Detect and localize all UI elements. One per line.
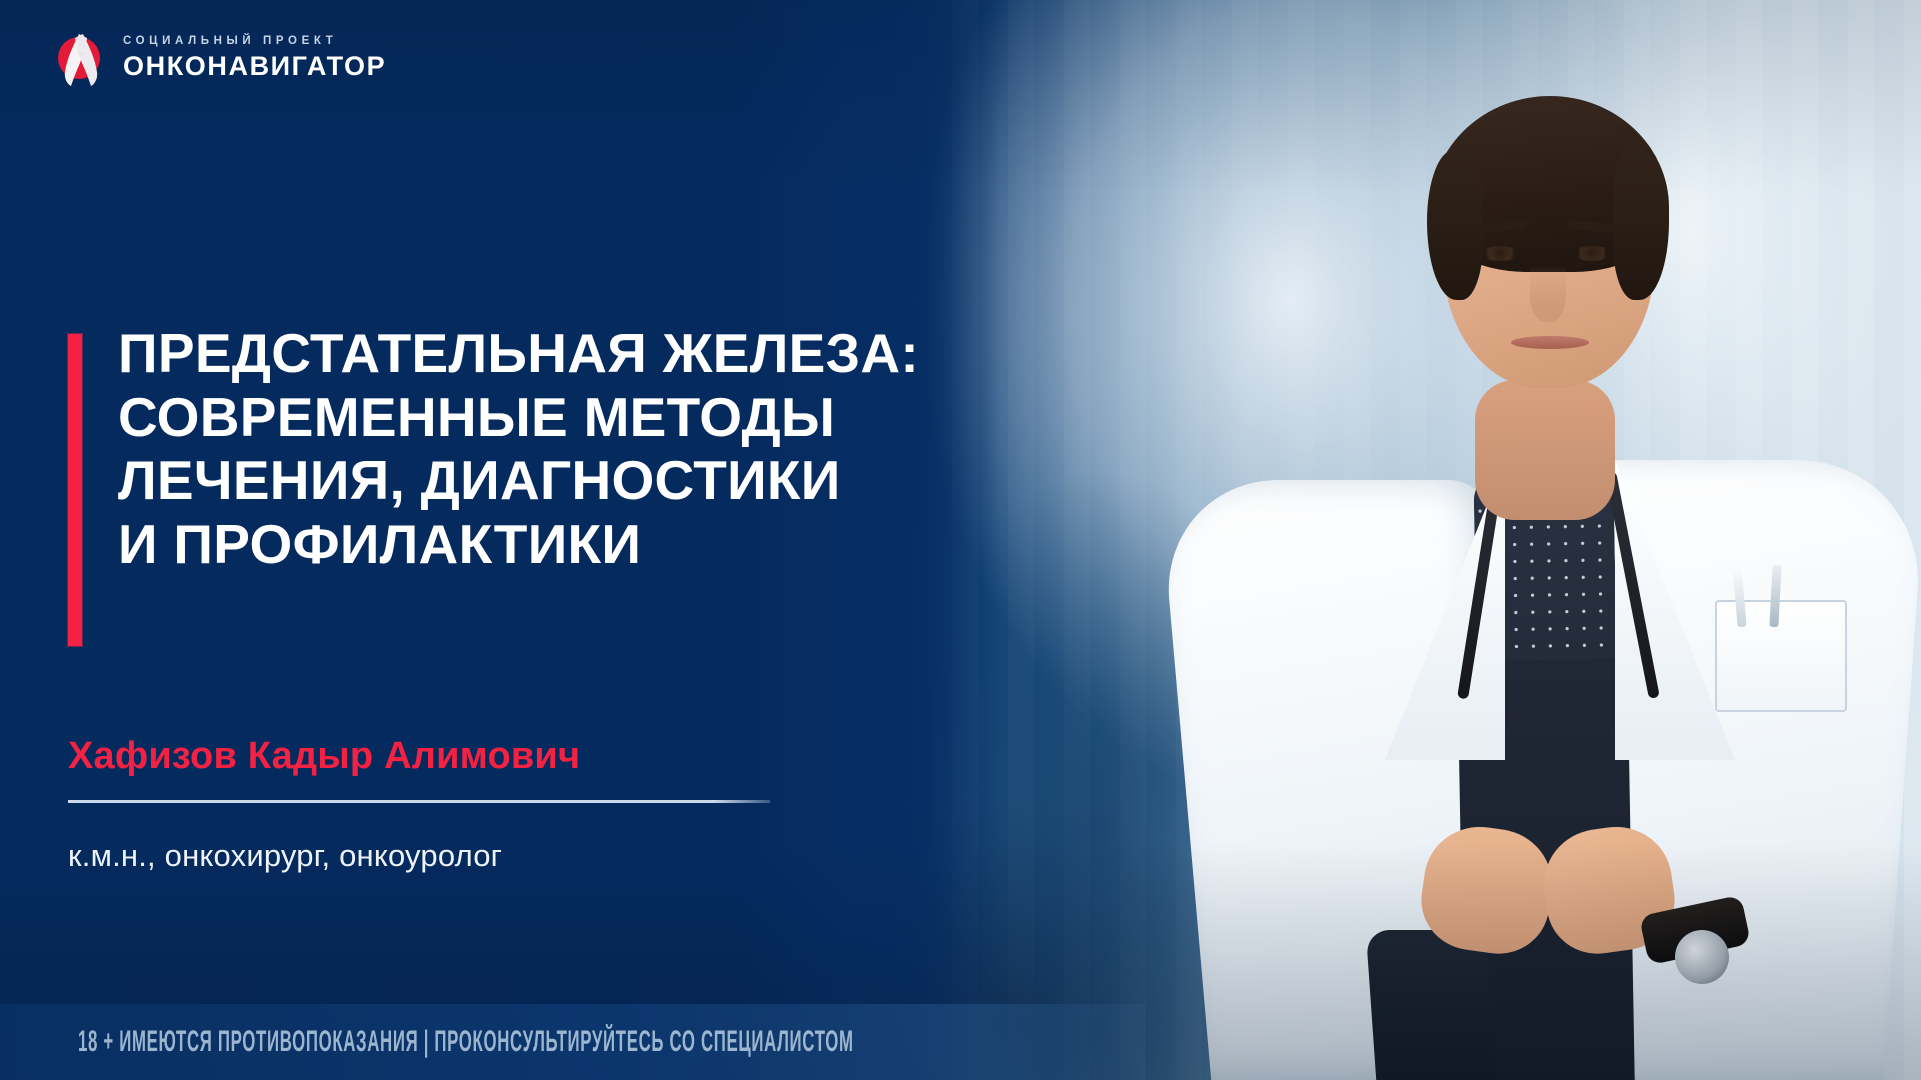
presentation-slide: СОЦИАЛЬНЫЙ ПРОЕКТ ОНКОНАВИГАТОР ПРЕДСТАТ… — [0, 0, 1921, 1080]
speaker-divider — [68, 800, 770, 803]
speaker-role: к.м.н., онкохирург, онкоуролог — [68, 838, 502, 874]
awareness-ribbon-icon — [52, 28, 110, 88]
title-line-1: ПРЕДСТАТЕЛЬНАЯ ЖЕЛЕЗА: — [118, 322, 978, 386]
page-title: ПРЕДСТАТЕЛЬНАЯ ЖЕЛЕЗА: СОВРЕМЕННЫЕ МЕТОД… — [118, 322, 978, 576]
disclaimer-text: 18 + ИМЕЮТСЯ ПРОТИВОПОКАЗАНИЯ | ПРОКОНСУ… — [78, 1025, 854, 1059]
brand-logo[interactable]: СОЦИАЛЬНЫЙ ПРОЕКТ ОНКОНАВИГАТОР — [52, 28, 386, 88]
title-line-4: И ПРОФИЛАКТИКИ — [118, 513, 978, 577]
title-accent-bar — [68, 334, 82, 646]
speaker-name: Хафизов Кадыр Алимович — [68, 735, 580, 778]
title-line-2: СОВРЕМЕННЫЕ МЕТОДЫ — [118, 386, 978, 450]
logo-name: ОНКОНАВИГАТОР — [123, 53, 386, 80]
title-line-3: ЛЕЧЕНИЯ, ДИАГНОСТИКИ — [118, 449, 978, 513]
logo-tagline: СОЦИАЛЬНЫЙ ПРОЕКТ — [123, 36, 386, 48]
disclaimer-banner: 18 + ИМЕЮТСЯ ПРОТИВОПОКАЗАНИЯ | ПРОКОНСУ… — [0, 1004, 1145, 1080]
logo-text-block: СОЦИАЛЬНЫЙ ПРОЕКТ ОНКОНАВИГАТОР — [123, 36, 386, 81]
